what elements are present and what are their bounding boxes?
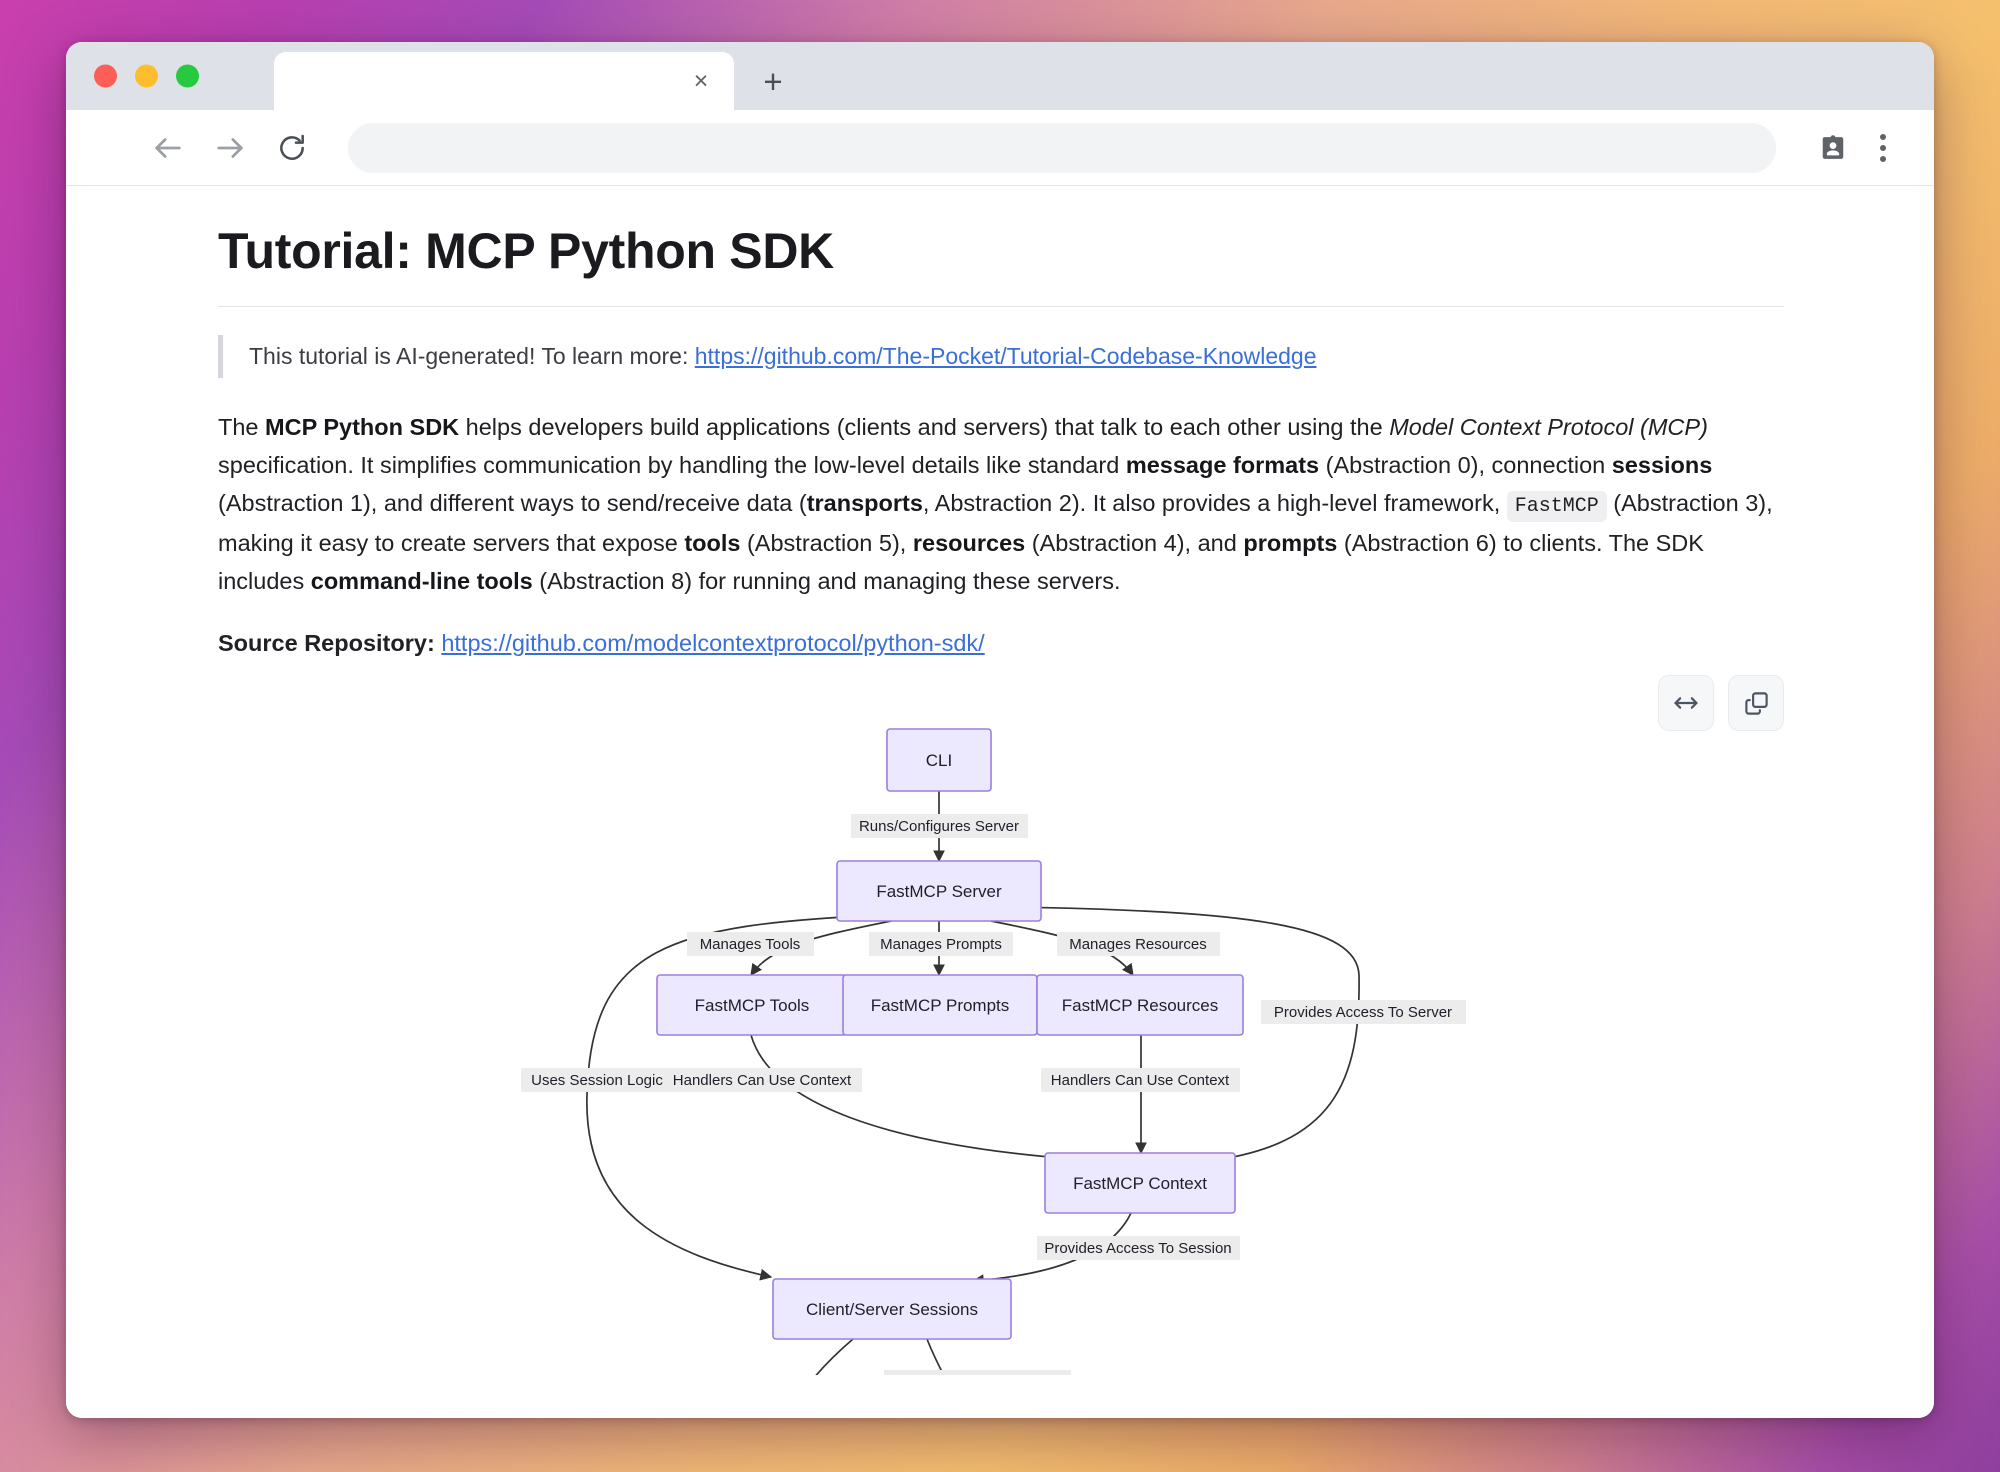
- copy-button[interactable]: [1728, 675, 1784, 731]
- edge-label-operates-over-transport: Operates Over Transport: [884, 1370, 1071, 1375]
- flowchart-svg: CLI FastMCP Server FastMCP Tools: [251, 675, 1751, 1375]
- p-seg-11: (Abstraction 8) for running and managing…: [533, 568, 1121, 594]
- reload-button[interactable]: [266, 122, 318, 174]
- minimize-window-button[interactable]: [135, 65, 158, 88]
- fit-width-button[interactable]: [1658, 675, 1714, 731]
- back-button[interactable]: [142, 122, 194, 174]
- p-bold-resources: resources: [913, 530, 1025, 556]
- arrow-left-icon: [151, 131, 185, 165]
- p-seg-1: The: [218, 414, 265, 440]
- mermaid-diagram: CLI FastMCP Server FastMCP Tools: [218, 675, 1784, 1375]
- tab-strip: × +: [66, 42, 1934, 110]
- node-cli-label: CLI: [926, 751, 952, 770]
- p-italic-mcp: Model Context Protocol (MCP): [1389, 414, 1708, 440]
- p-seg-9: (Abstraction 4), and: [1025, 530, 1243, 556]
- svg-text:Manages Tools: Manages Tools: [700, 936, 801, 953]
- svg-text:Uses Session Logic: Uses Session Logic: [531, 1072, 663, 1089]
- address-bar[interactable]: [348, 123, 1776, 173]
- close-tab-icon[interactable]: ×: [686, 66, 716, 96]
- browser-menu-button[interactable]: [1860, 125, 1906, 171]
- p-bold-tools: tools: [684, 530, 740, 556]
- node-fastmcp-resources[interactable]: FastMCP Resources: [1037, 975, 1243, 1035]
- profile-badge-icon: [1818, 133, 1848, 163]
- arrows-horizontal-icon: [1672, 689, 1700, 717]
- p-seg-3: specification. It simplifies communicati…: [218, 452, 1126, 478]
- profile-button[interactable]: [1810, 125, 1856, 171]
- p-code-fastmcp: FastMCP: [1507, 491, 1607, 522]
- edge-label-handlers-can-use-context-resources: Handlers Can Use Context: [1041, 1068, 1240, 1092]
- edge-label-manages-prompts: Manages Prompts: [869, 932, 1013, 956]
- node-fastmcp-prompts-label: FastMCP Prompts: [871, 996, 1010, 1015]
- source-repository-link[interactable]: https://github.com/modelcontextprotocol/…: [441, 630, 984, 656]
- intro-paragraph: The MCP Python SDK helps developers buil…: [218, 408, 1784, 601]
- diagram-toolbar: [1658, 675, 1784, 731]
- edge-label-provides-access-to-server: Provides Access To Server: [1261, 1000, 1466, 1024]
- p-seg-5: (Abstraction 1), and different ways to s…: [218, 490, 807, 516]
- node-fastmcp-tools[interactable]: FastMCP Tools: [657, 975, 847, 1035]
- p-bold-message-formats: message formats: [1126, 452, 1319, 478]
- copy-icon: [1743, 690, 1770, 717]
- node-client-server-sessions-label: Client/Server Sessions: [806, 1300, 978, 1319]
- close-window-button[interactable]: [94, 65, 117, 88]
- p-seg-4: (Abstraction 0), connection: [1319, 452, 1612, 478]
- page-viewport: Tutorial: MCP Python SDK This tutorial i…: [66, 186, 1934, 1418]
- reload-icon: [276, 132, 308, 164]
- ai-generated-notice: This tutorial is AI-generated! To learn …: [218, 335, 1784, 378]
- node-fastmcp-resources-label: FastMCP Resources: [1062, 996, 1219, 1015]
- article: Tutorial: MCP Python SDK This tutorial i…: [66, 186, 1934, 1375]
- svg-text:Handlers Can Use Context: Handlers Can Use Context: [673, 1072, 852, 1089]
- p-bold-prompts: prompts: [1243, 530, 1337, 556]
- source-repository-label: Source Repository:: [218, 630, 435, 656]
- svg-text:Operates Over Transport: Operates Over Transport: [894, 1374, 1061, 1375]
- node-fastmcp-tools-label: FastMCP Tools: [695, 996, 810, 1015]
- p-seg-6: , Abstraction 2). It also provides a hig…: [923, 490, 1507, 516]
- source-repository: Source Repository: https://github.com/mo…: [218, 630, 1784, 657]
- svg-text:Provides Access To Server: Provides Access To Server: [1274, 1004, 1452, 1021]
- maximize-window-button[interactable]: [176, 65, 199, 88]
- p-seg-2: helps developers build applications (cli…: [459, 414, 1389, 440]
- browser-toolbar: [66, 110, 1934, 186]
- p-bold-cli-tools: command-line tools: [311, 568, 533, 594]
- node-fastmcp-prompts[interactable]: FastMCP Prompts: [843, 975, 1037, 1035]
- edge-label-handlers-can-use-context-tools: Handlers Can Use Context: [663, 1068, 862, 1092]
- node-client-server-sessions[interactable]: Client/Server Sessions: [773, 1279, 1011, 1339]
- window-controls: [94, 65, 199, 88]
- new-tab-button[interactable]: +: [756, 64, 790, 98]
- browser-tab[interactable]: ×: [274, 52, 734, 110]
- p-bold-transports: transports: [807, 490, 923, 516]
- node-fastmcp-context-label: FastMCP Context: [1073, 1174, 1207, 1193]
- svg-text:Runs/Configures Server: Runs/Configures Server: [859, 818, 1019, 835]
- edge-label-provides-access-to-session: Provides Access To Session: [1037, 1236, 1240, 1260]
- edge-label-runs-configures-server: Runs/Configures Server: [851, 814, 1028, 838]
- p-bold-sessions: sessions: [1612, 452, 1713, 478]
- browser-window: × +: [66, 42, 1934, 1418]
- edge-label-uses-session-logic: Uses Session Logic: [521, 1068, 673, 1092]
- svg-text:Manages Resources: Manages Resources: [1069, 936, 1207, 953]
- svg-text:Handlers Can Use Context: Handlers Can Use Context: [1051, 1072, 1230, 1089]
- edge-label-manages-tools: Manages Tools: [687, 932, 814, 956]
- kebab-menu-icon: [1880, 134, 1886, 162]
- node-fastmcp-server-label: FastMCP Server: [876, 882, 1002, 901]
- node-cli[interactable]: CLI: [887, 729, 991, 791]
- arrow-right-icon: [213, 131, 247, 165]
- notice-text: This tutorial is AI-generated! To learn …: [249, 343, 695, 369]
- edge-label-manages-resources: Manages Resources: [1057, 932, 1220, 956]
- p-seg-8: (Abstraction 5),: [740, 530, 912, 556]
- tutorial-repo-link[interactable]: https://github.com/The-Pocket/Tutorial-C…: [695, 343, 1317, 369]
- p-bold-sdk: MCP Python SDK: [265, 414, 459, 440]
- page-title: Tutorial: MCP Python SDK: [218, 222, 1784, 307]
- svg-text:Manages Prompts: Manages Prompts: [880, 936, 1002, 953]
- node-fastmcp-context[interactable]: FastMCP Context: [1045, 1153, 1235, 1213]
- forward-button[interactable]: [204, 122, 256, 174]
- node-fastmcp-server[interactable]: FastMCP Server: [837, 861, 1041, 921]
- svg-text:Provides Access To Session: Provides Access To Session: [1044, 1240, 1231, 1257]
